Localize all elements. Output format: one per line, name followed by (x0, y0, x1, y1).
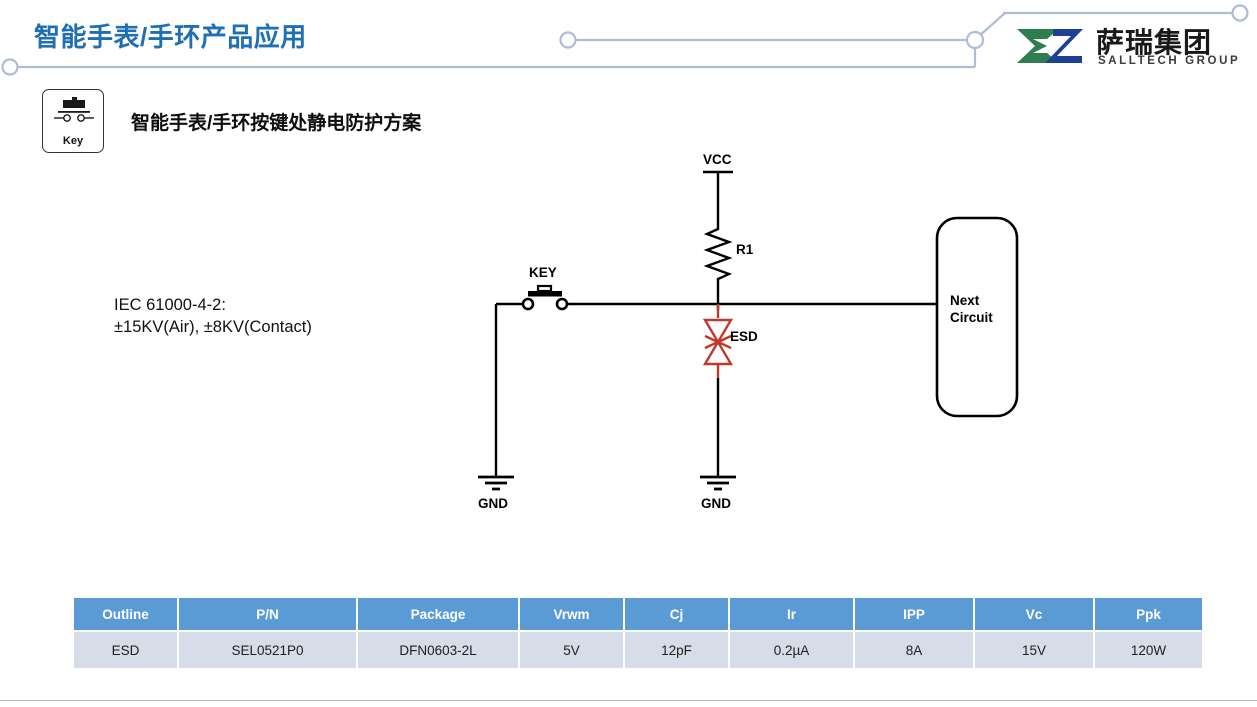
table-header-cell-ipp: IPP (855, 598, 973, 630)
table-cell-ir: 0.2µA (730, 632, 853, 668)
resistor-r1-label: R1 (736, 242, 753, 257)
table-header-cell-package: Package (358, 598, 518, 630)
table-cell-package: DFN0603-2L (358, 632, 518, 668)
table-header-cell-vc: Vc (975, 598, 1093, 630)
esd-label: ESD (730, 329, 758, 344)
key-terminal-left (523, 299, 533, 309)
table-body: ESDSEL0521P0DFN0603-2L5V12pF0.2µA8A15V12… (74, 632, 1202, 668)
vcc-label: VCC (703, 152, 732, 167)
gnd-mid-label: GND (701, 496, 731, 511)
table-cell-outline: ESD (74, 632, 177, 668)
next-circuit-label-line1: Next (950, 292, 993, 309)
gnd-left-label: GND (478, 496, 508, 511)
table-header-cell-vrwm: Vrwm (520, 598, 623, 630)
table-header-cell-cj: Cj (625, 598, 728, 630)
table-cell-vc: 15V (975, 632, 1093, 668)
table-cell-cj: 12pF (625, 632, 728, 668)
table-cell-p-n: SEL0521P0 (179, 632, 356, 668)
slide-page: 智能手表/手环产品应用 萨瑞集团 SALLTECH GROUP Key 智 (0, 0, 1257, 707)
table-cell-ppk: 120W (1095, 632, 1202, 668)
table-header-cell-outline: Outline (74, 598, 177, 630)
table-header-row: OutlineP/NPackageVrwmCjIrIPPVcPpk (74, 598, 1202, 630)
next-circuit-label-line2: Circuit (950, 309, 993, 326)
key-plunger (538, 286, 551, 291)
footer-divider (0, 700, 1257, 701)
esd-protection-schematic (0, 0, 1257, 600)
table-row: ESDSEL0521P0DFN0603-2L5V12pF0.2µA8A15V12… (74, 632, 1202, 668)
key-label: KEY (529, 265, 557, 280)
table-header-cell-ir: Ir (730, 598, 853, 630)
specification-table: OutlineP/NPackageVrwmCjIrIPPVcPpk ESDSEL… (72, 596, 1204, 670)
key-terminal-right (557, 299, 567, 309)
table-header-cell-ppk: Ppk (1095, 598, 1202, 630)
table-cell-ipp: 8A (855, 632, 973, 668)
resistor-r1-symbol (707, 225, 729, 295)
table-header-cell-p-n: P/N (179, 598, 356, 630)
next-circuit-label: Next Circuit (950, 292, 993, 326)
table-cell-vrwm: 5V (520, 632, 623, 668)
